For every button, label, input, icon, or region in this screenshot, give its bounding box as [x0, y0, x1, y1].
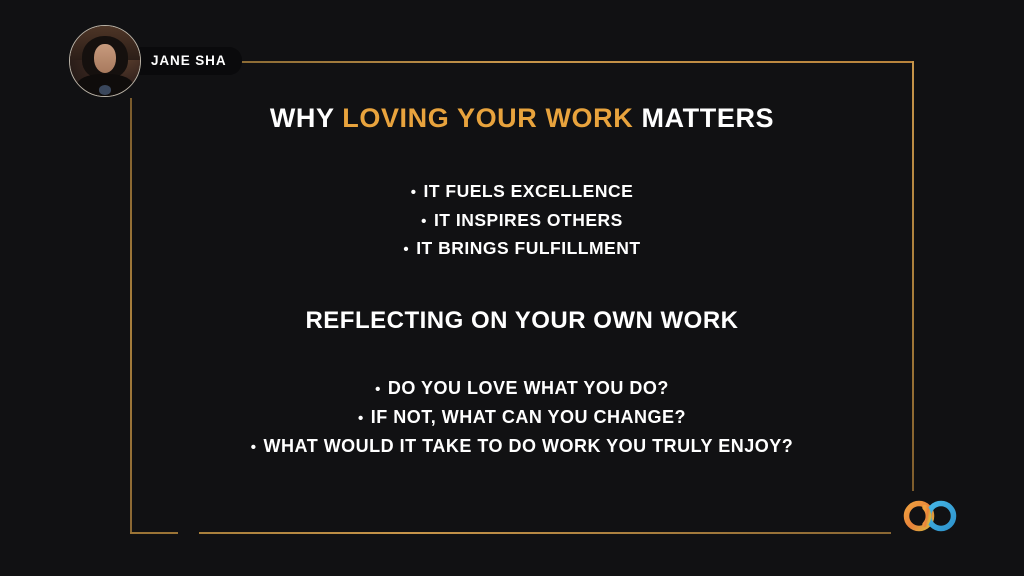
presentation-slide: JANE SHA WHY LOVING YOUR WORK MATTERS •I… [0, 0, 1024, 576]
slide-content: WHY LOVING YOUR WORK MATTERS •IT FUELS E… [130, 61, 914, 534]
avatar-photo-collar [99, 85, 112, 95]
list-item-label: IF NOT, WHAT CAN YOU CHANGE? [371, 407, 686, 427]
list-item-label: IT INSPIRES OTHERS [434, 210, 623, 230]
title-lead: WHY [270, 103, 334, 133]
secondary-bullet-list: •DO YOU LOVE WHAT YOU DO? •IF NOT, WHAT … [130, 379, 914, 466]
title-trail: MATTERS [641, 103, 774, 133]
list-item-label: WHAT WOULD IT TAKE TO DO WORK YOU TRULY … [264, 436, 794, 456]
list-item: •IT INSPIRES OTHERS [130, 212, 914, 230]
list-item: •IT FUELS EXCELLENCE [130, 183, 914, 201]
list-item-label: DO YOU LOVE WHAT YOU DO? [388, 378, 669, 398]
interlocking-rings-icon [899, 495, 961, 537]
presenter-badge: JANE SHA [69, 25, 242, 97]
brand-logo [899, 495, 961, 537]
list-item: •IT BRINGS FULFILLMENT [130, 240, 914, 258]
bullet-icon: • [375, 381, 381, 398]
bullet-icon: • [251, 439, 257, 456]
list-item: •IF NOT, WHAT CAN YOU CHANGE? [130, 408, 914, 426]
bullet-icon: • [421, 213, 427, 230]
list-item-label: IT FUELS EXCELLENCE [423, 181, 633, 201]
bullet-icon: • [403, 241, 409, 258]
presenter-name: JANE SHA [125, 47, 242, 75]
slide-subtitle: REFLECTING ON YOUR OWN WORK [130, 309, 914, 333]
list-item: •WHAT WOULD IT TAKE TO DO WORK YOU TRULY… [130, 437, 914, 455]
slide-title: WHY LOVING YOUR WORK MATTERS [130, 105, 914, 132]
list-item-label: IT BRINGS FULFILLMENT [416, 238, 640, 258]
avatar-photo-face [94, 44, 116, 73]
list-item: •DO YOU LOVE WHAT YOU DO? [130, 379, 914, 397]
title-highlight: LOVING YOUR WORK [342, 103, 633, 133]
bullet-icon: • [358, 410, 364, 427]
avatar [69, 25, 141, 97]
bullet-icon: • [411, 184, 417, 201]
primary-bullet-list: •IT FUELS EXCELLENCE •IT INSPIRES OTHERS… [130, 183, 914, 269]
